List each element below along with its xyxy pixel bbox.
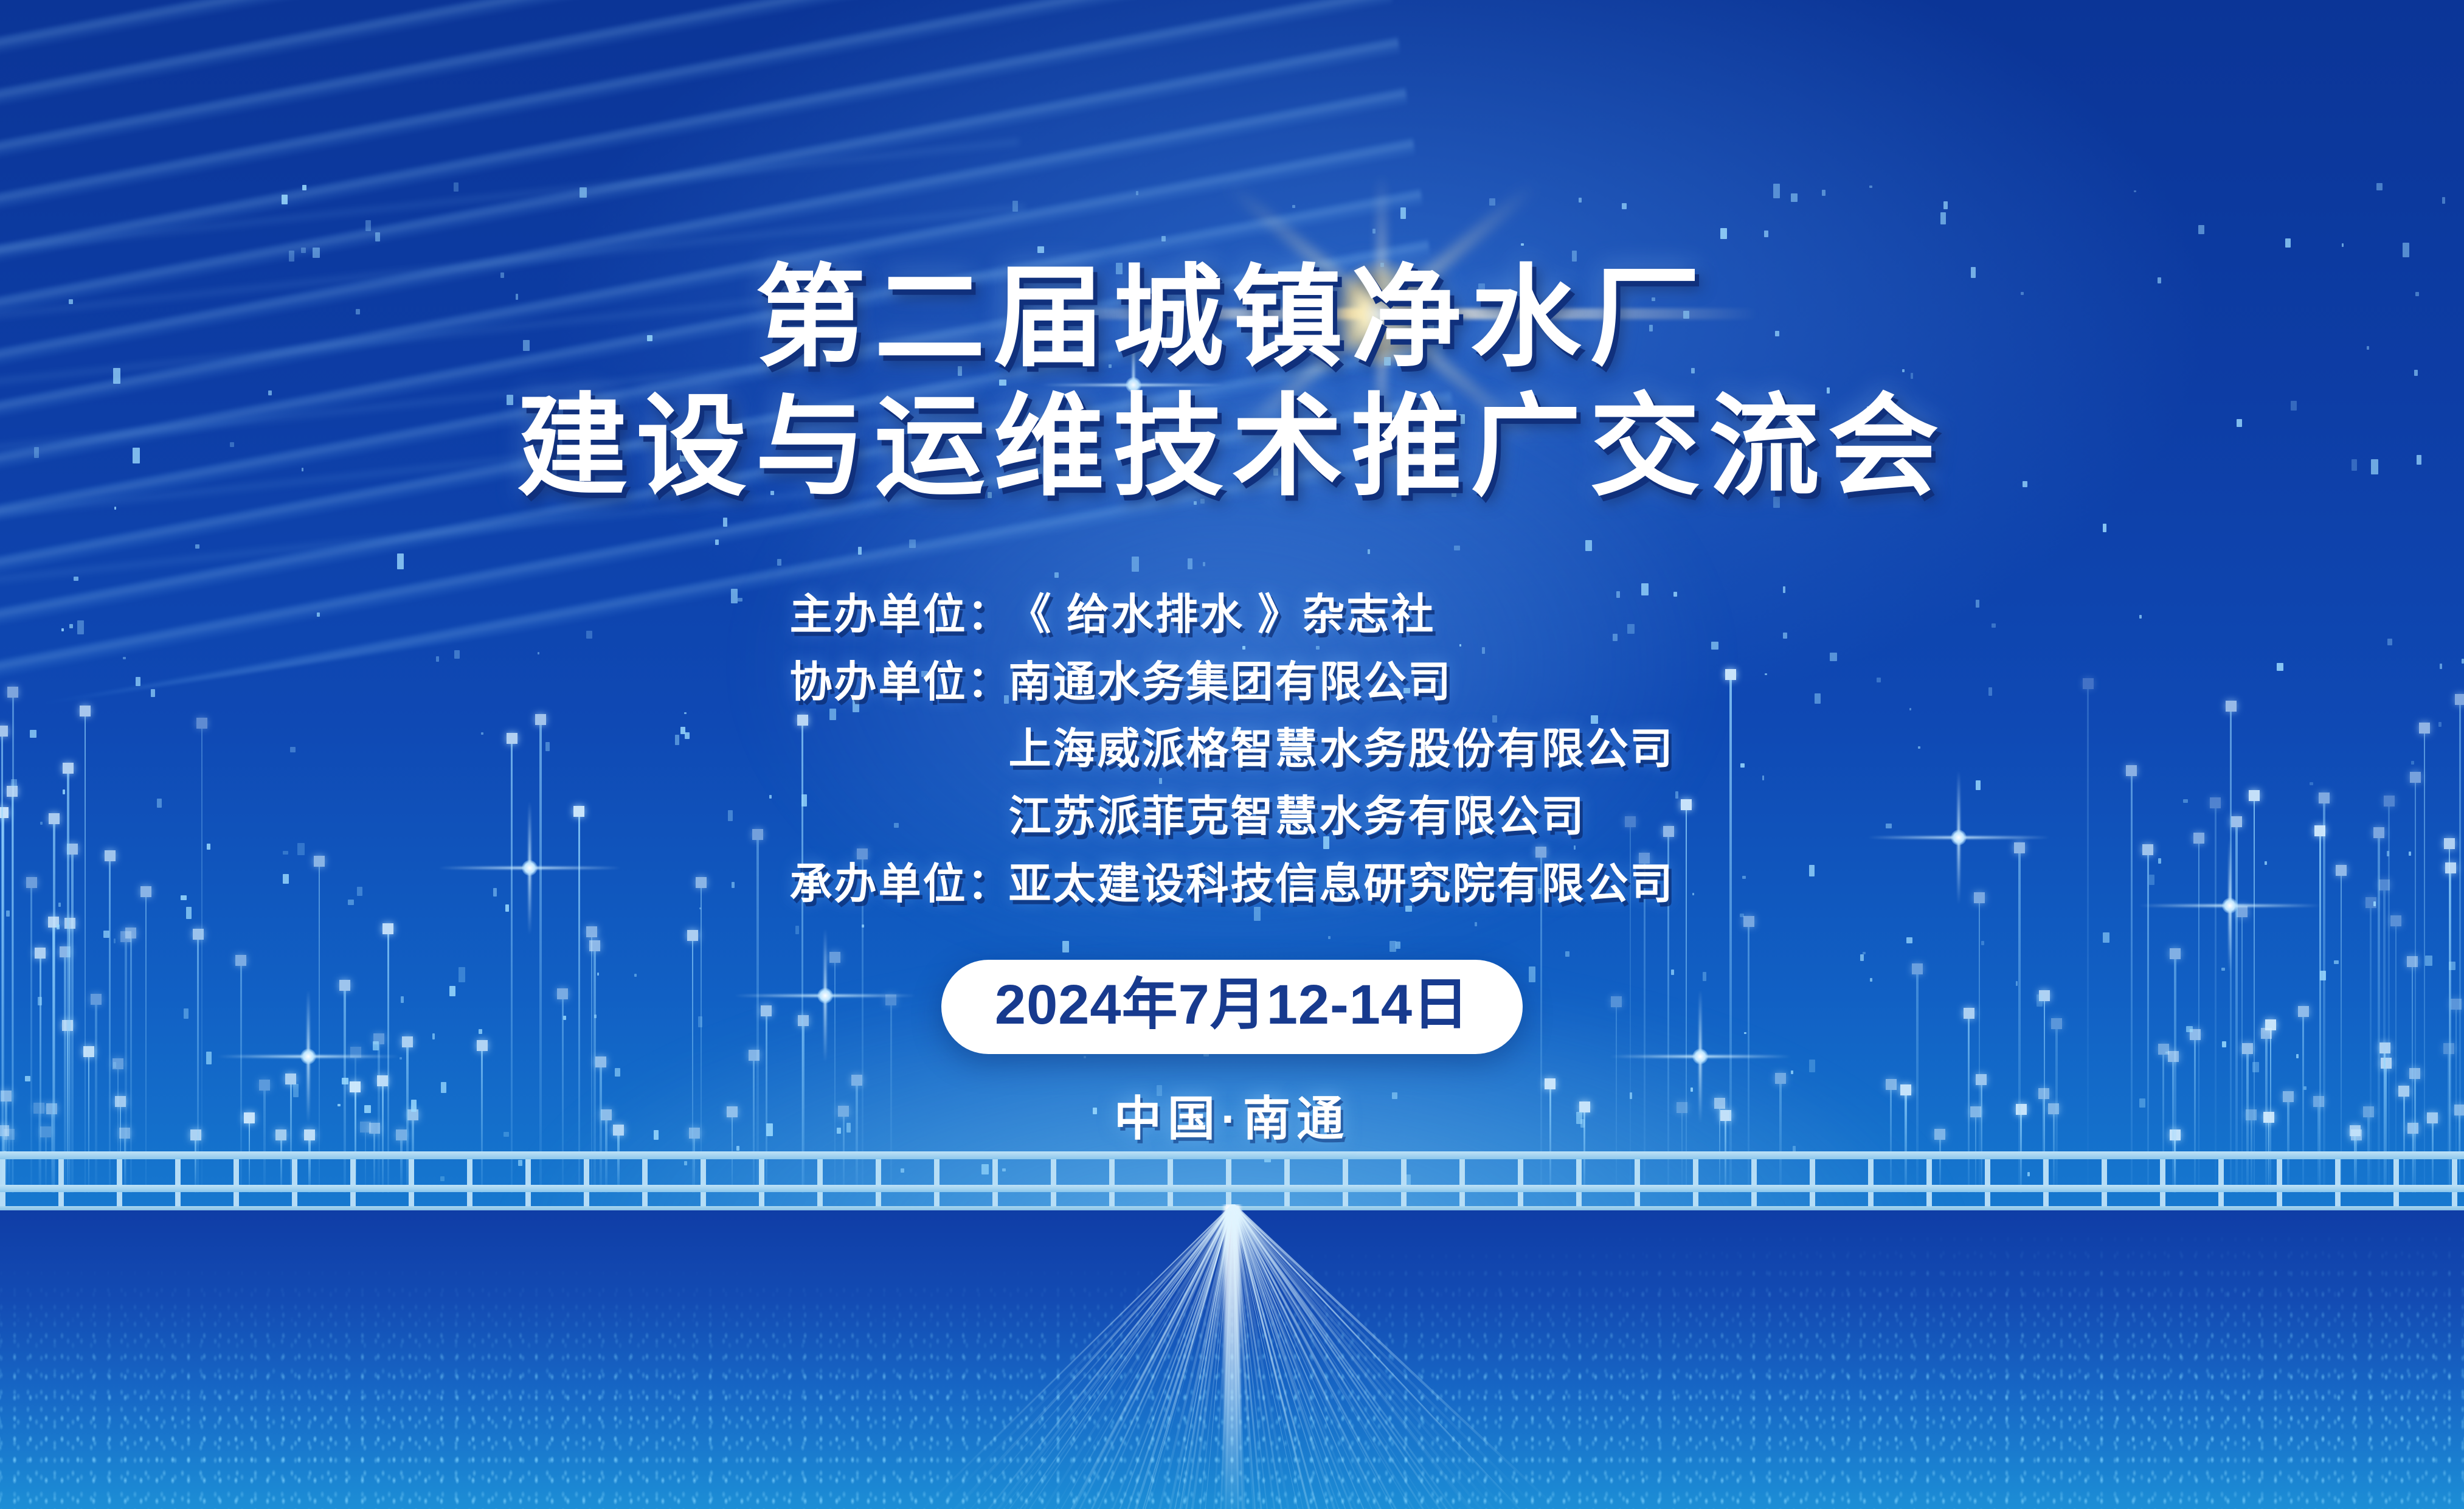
- organizer-label: 主办单位：: [790, 581, 1009, 648]
- organizer-row: 主办单位：《 给水排水 》杂志社: [790, 581, 1675, 648]
- date-badge: 2024年7月12-14日: [941, 960, 1523, 1054]
- title-line-1: 第二届城镇净水厂: [517, 262, 1947, 375]
- organizer-value: 江苏派菲克智慧水务有限公司: [1009, 783, 1675, 850]
- organizer-label: 协办单位：: [790, 648, 1009, 716]
- location-label: 中国·南通: [1114, 1081, 1350, 1149]
- organizer-row: 协办单位：南通水务集团有限公司: [790, 648, 1675, 716]
- organizer-row: 协办单位：江苏派菲克智慧水务有限公司: [790, 783, 1675, 850]
- organizer-row: 承办单位：亚太建设科技信息研究院有限公司: [790, 850, 1675, 918]
- organizer-value: 南通水务集团有限公司: [1009, 648, 1675, 716]
- organizer-value: 《 给水排水 》杂志社: [1009, 581, 1675, 648]
- organizer-list: 主办单位：《 给水排水 》杂志社协办单位：南通水务集团有限公司协办单位：上海威派…: [790, 581, 1675, 917]
- conference-poster: 第二届城镇净水厂 建设与运维技术推广交流会 主办单位：《 给水排水 》杂志社协办…: [0, 0, 2464, 1509]
- organizer-value: 亚太建设科技信息研究院有限公司: [1009, 850, 1675, 918]
- title-line-2: 建设与运维技术推广交流会: [517, 390, 1947, 504]
- poster-title: 第二届城镇净水厂 建设与运维技术推广交流会: [517, 262, 1947, 503]
- poster-content: 第二届城镇净水厂 建设与运维技术推广交流会 主办单位：《 给水排水 》杂志社协办…: [0, 0, 2464, 1509]
- organizer-value: 上海威派格智慧水务股份有限公司: [1009, 715, 1675, 783]
- organizer-label: 承办单位：: [790, 850, 1009, 918]
- organizer-row: 协办单位：上海威派格智慧水务股份有限公司: [790, 715, 1675, 783]
